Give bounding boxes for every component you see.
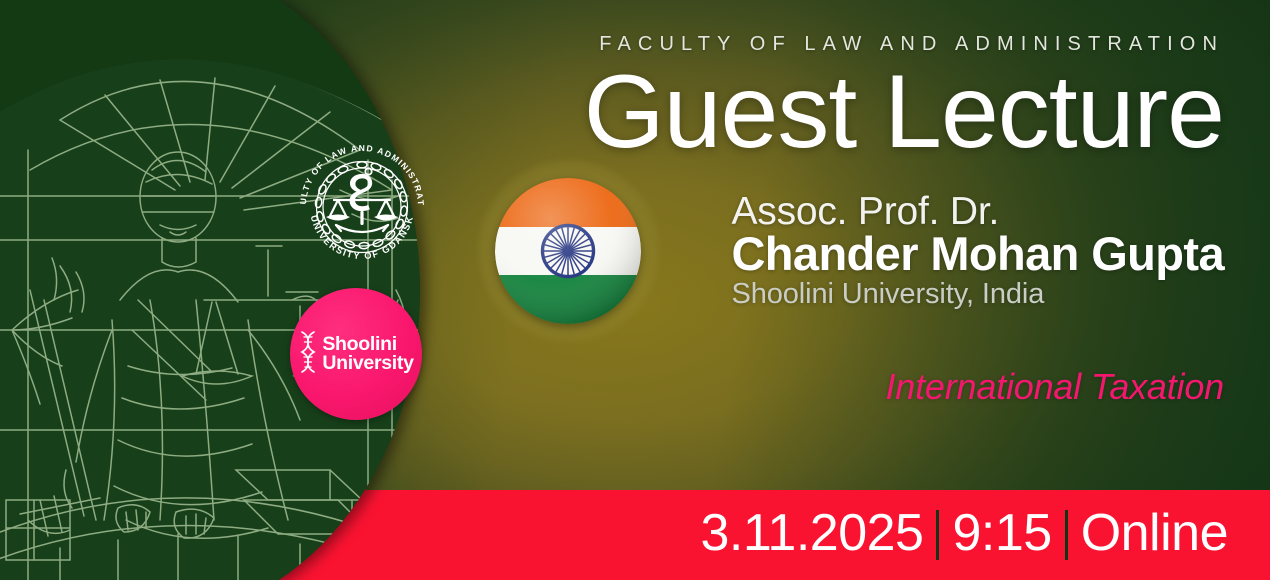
shoolini-logo-inner: Shoolini University [298,330,413,378]
page-title: Guest Lecture [0,60,1224,164]
faculty-kicker: FACULTY OF LAW AND ADMINISTRATION [0,33,1224,56]
event-mode: Online [1081,507,1228,563]
event-time: 9:15 [952,507,1051,563]
dna-helix-icon [298,330,318,378]
details-separator-2 [1065,510,1068,560]
speaker-name: Chander Mohan Gupta [731,229,1224,278]
poster-canvas: 3.11.2025 9:15 Online [0,0,1270,580]
shoolini-logo-line2: University [322,354,413,374]
details-separator-1 [936,510,939,560]
shoolini-university-logo-icon: Shoolini University [290,288,422,420]
event-details-group: 3.11.2025 9:15 Online [700,507,1228,563]
india-flag-icon [495,178,641,324]
shoolini-logo-text: Shoolini University [322,335,413,374]
speaker-affiliation: Shoolini University, India [731,279,1224,311]
speaker-block: Assoc. Prof. Dr. Chander Mohan Gupta Sho… [731,192,1224,311]
speaker-title: Assoc. Prof. Dr. [731,192,1224,232]
lecture-topic: International Taxation [885,366,1224,408]
event-date: 3.11.2025 [700,507,923,563]
